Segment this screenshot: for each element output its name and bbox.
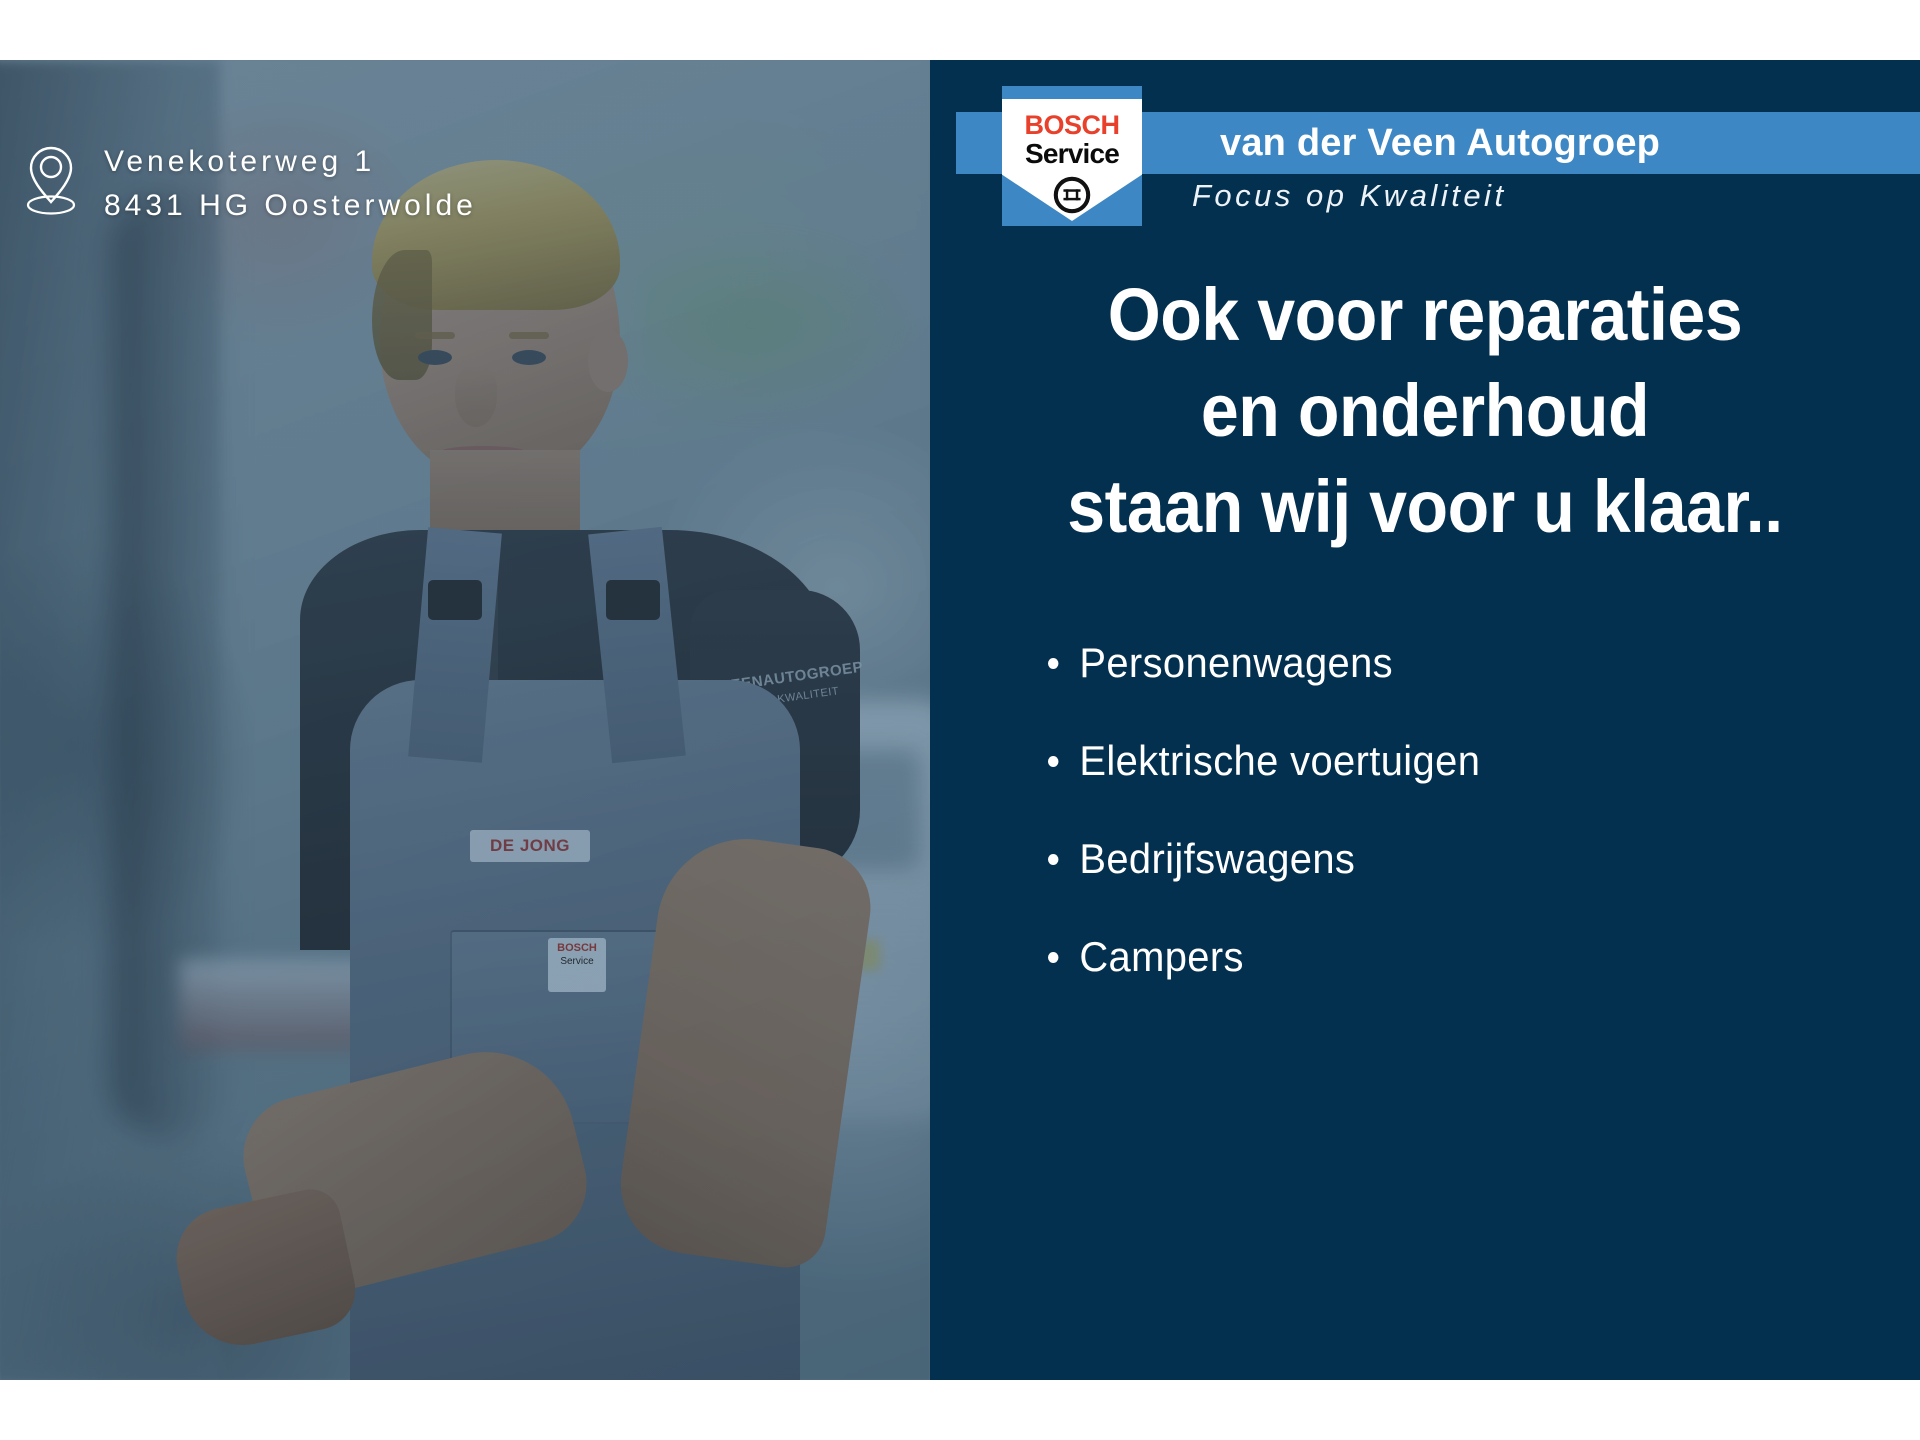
headline: Ook voor reparaties en onderhoud staan w… — [970, 267, 1881, 555]
brand-header: BOSCH Service van der Veen Autogroep Foc… — [930, 60, 1920, 225]
bosch-service-logo: BOSCH Service — [1002, 86, 1142, 226]
service-label: Personenwagens — [1079, 633, 1393, 693]
list-item: Campers — [1048, 927, 1876, 987]
address-block: Venekoterweg 1 8431 HG Oosterwolde — [24, 140, 477, 228]
address-text: Venekoterweg 1 8431 HG Oosterwolde — [104, 140, 477, 228]
address-postal-city: 8431 HG Oosterwolde — [104, 184, 477, 228]
info-panel: BOSCH Service van der Veen Autogroep Foc… — [930, 60, 1920, 1380]
service-label: Campers — [1079, 927, 1244, 987]
bosch-service-word: Service — [1002, 138, 1142, 170]
workshop-photo: VDVEENAUTOGROEP FOCUS OP KWALITEIT DE JO… — [0, 60, 930, 1380]
address-street: Venekoterweg 1 — [104, 140, 477, 184]
headline-line-3: staan wij voor u klaar.. — [970, 459, 1881, 555]
bullet-dot-icon — [1048, 658, 1058, 669]
service-label: Bedrijfswagens — [1079, 829, 1355, 889]
headline-line-1: Ook voor reparaties — [970, 267, 1881, 363]
services-list: Personenwagens Elektrische voertuigen Be… — [930, 633, 1920, 987]
service-label: Elektrische voertuigen — [1079, 731, 1480, 791]
brand-tagline: Focus op Kwaliteit — [1192, 178, 1507, 214]
brand-name: van der Veen Autogroep — [1220, 112, 1660, 174]
bosch-armature-icon — [1053, 176, 1091, 214]
headline-line-2: en onderhoud — [970, 363, 1881, 459]
list-item: Elektrische voertuigen — [1048, 731, 1876, 791]
advertisement-banner: VDVEENAUTOGROEP FOCUS OP KWALITEIT DE JO… — [0, 0, 1920, 1440]
bullet-dot-icon — [1048, 756, 1058, 767]
list-item: Personenwagens — [1048, 633, 1876, 693]
photo-haze-overlay — [0, 60, 930, 1380]
list-item: Bedrijfswagens — [1048, 829, 1876, 889]
bullet-dot-icon — [1048, 854, 1058, 865]
bosch-wordmark: BOSCH — [1002, 110, 1142, 141]
bullet-dot-icon — [1048, 952, 1058, 963]
location-pin-icon — [24, 144, 78, 221]
